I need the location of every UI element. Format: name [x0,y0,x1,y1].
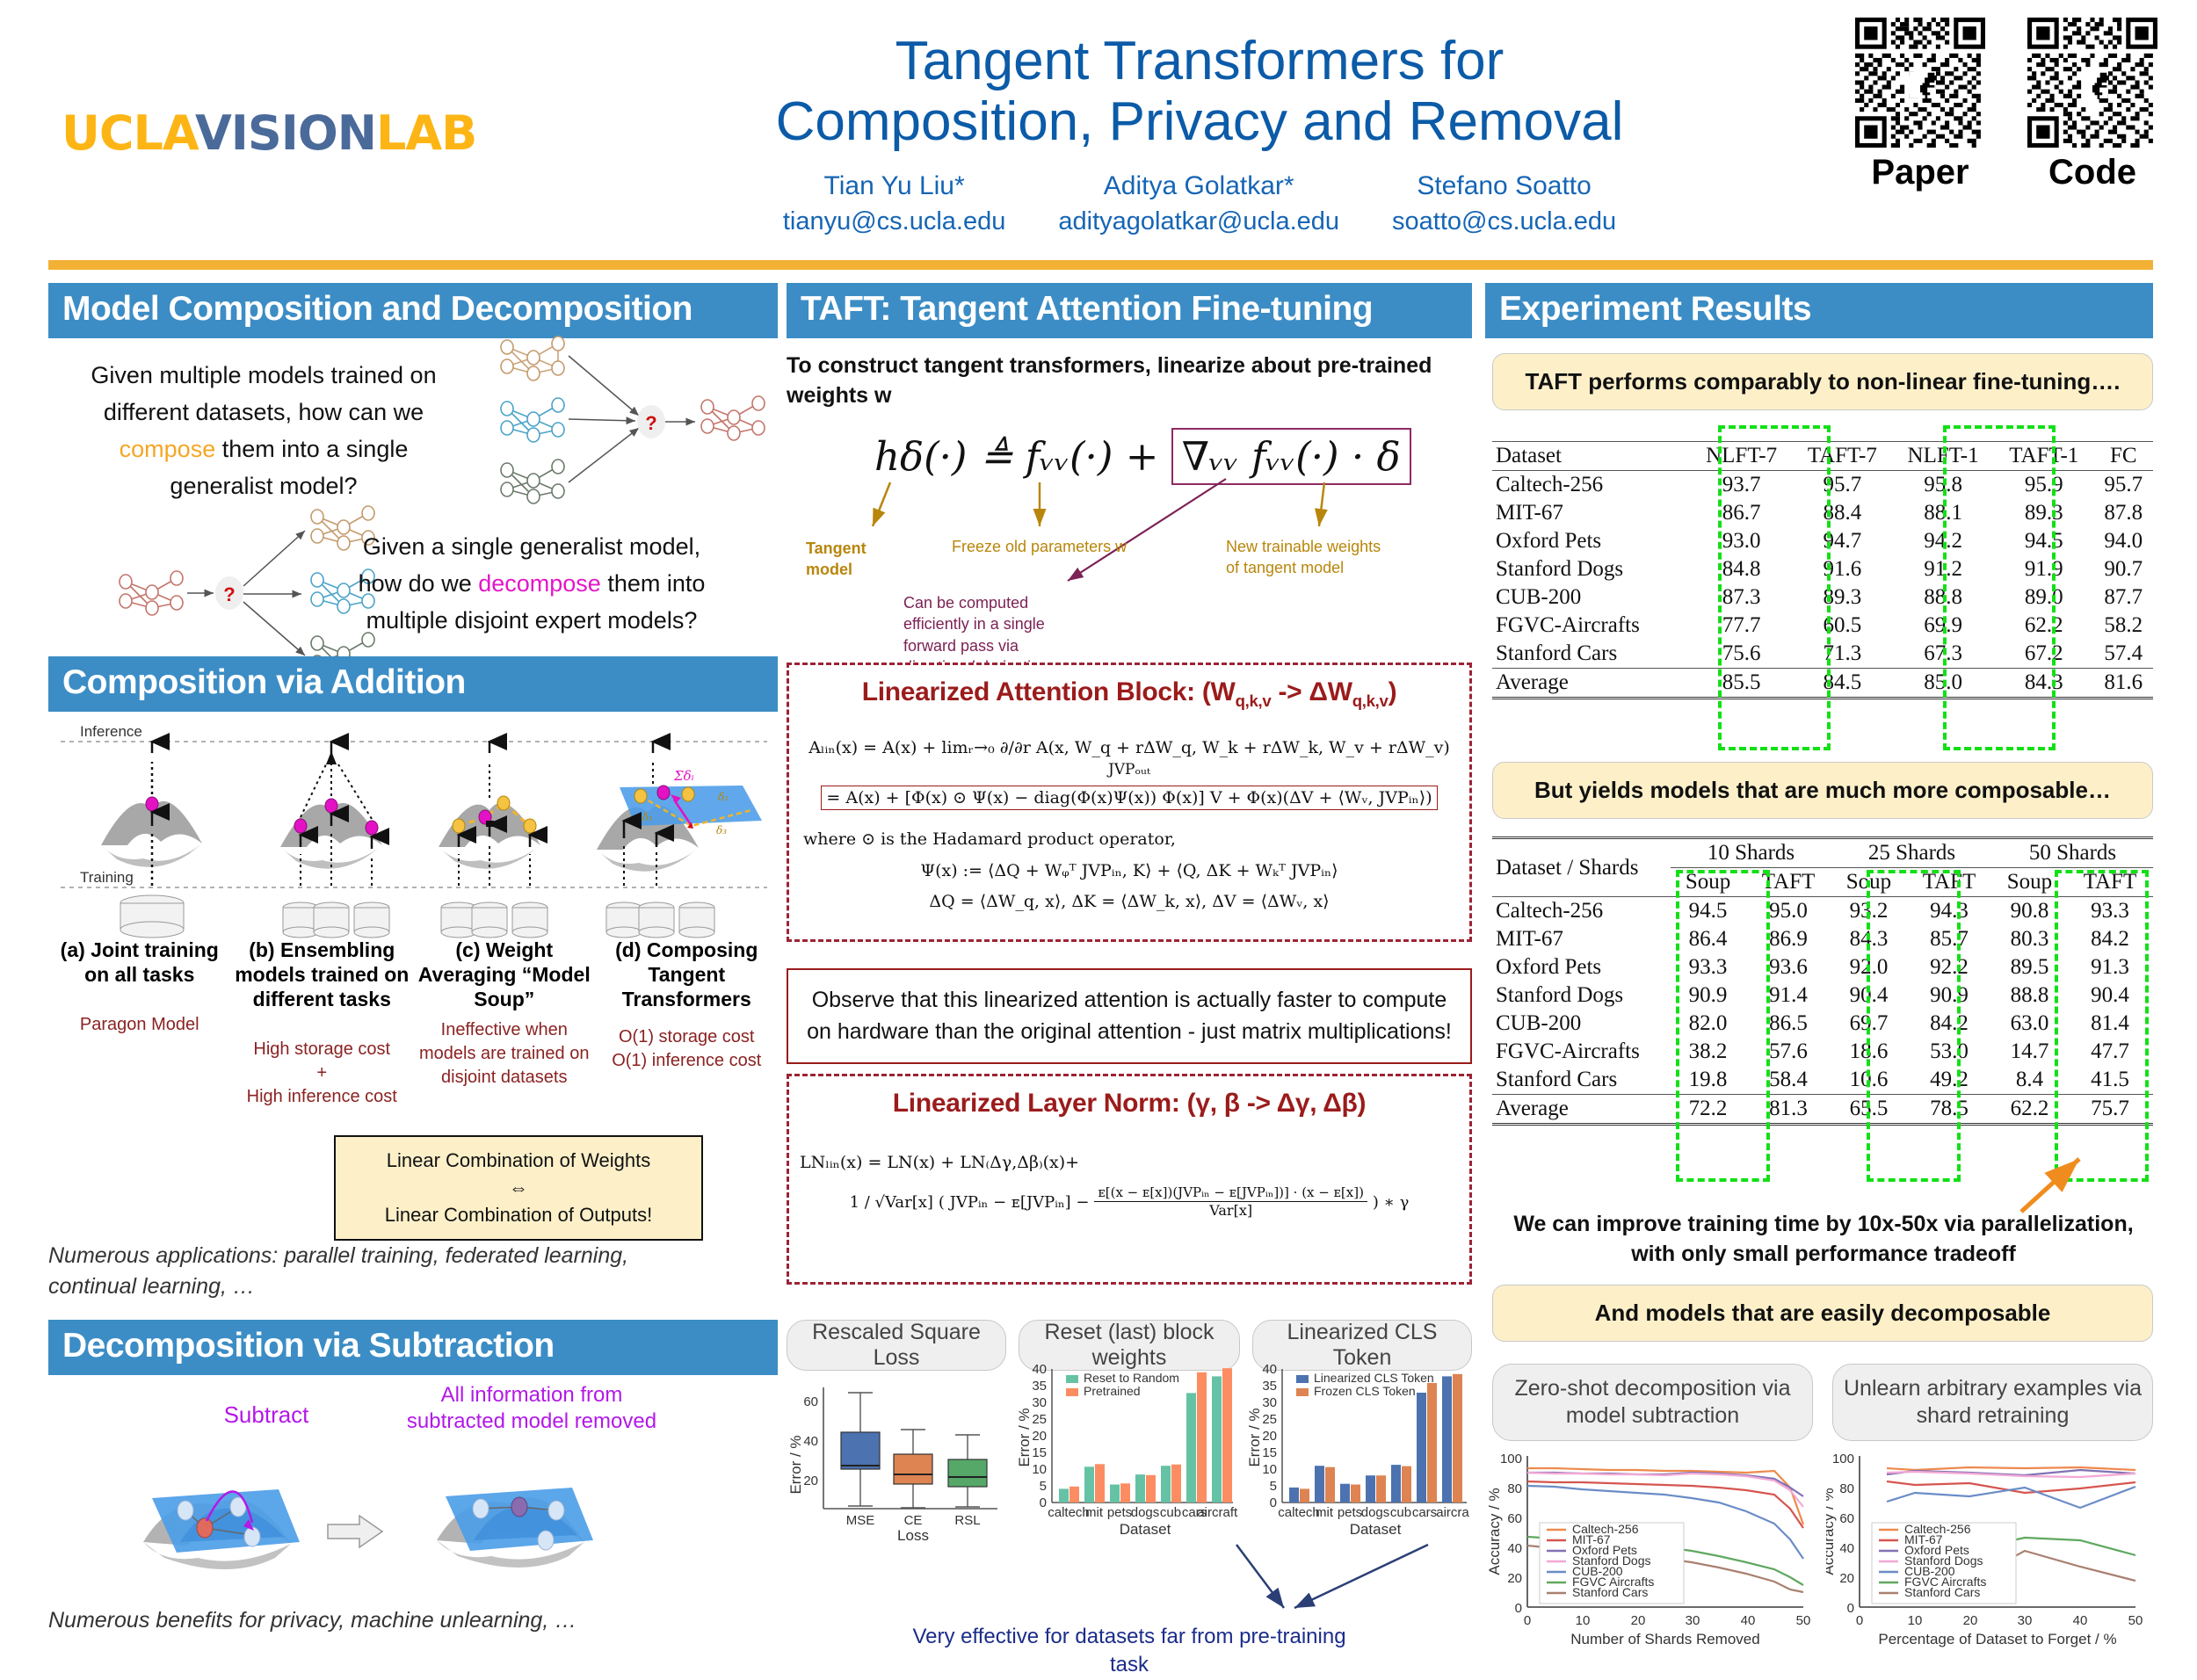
svg-text:100: 100 [1500,1452,1522,1466]
svg-text:0: 0 [1040,1495,1047,1510]
svg-text:10: 10 [1908,1613,1923,1628]
svg-text:15: 15 [1032,1445,1047,1460]
svg-text:20: 20 [1839,1571,1854,1586]
svg-text:60: 60 [1507,1511,1522,1526]
results-table-2-wrap: Dataset / Shards 10 Shards 25 Shards 50 … [1492,836,2153,1126]
caption-c-title: (c) Weight Averaging “Model Soup” [413,938,596,1011]
svg-text:40: 40 [1741,1613,1756,1628]
svg-text:aircrafts: aircrafts [1197,1505,1238,1520]
label-training: Training [80,869,134,886]
label-delta-3: δ₃ [716,824,727,836]
svg-text:caltech: caltech [1278,1505,1320,1520]
table-row: Oxford Pets93.393.692.092.289.591.3 [1492,953,2153,981]
svg-text:40: 40 [2073,1613,2088,1628]
right-column: Experiment Results TAFT performs compara… [1485,283,2153,338]
observation-callout: Observe that this linearized attention i… [787,968,1472,1064]
svg-text:10: 10 [1262,1462,1277,1477]
svg-text:mit: mit [1316,1505,1334,1520]
table-row: Oxford Pets93.094.794.294.594.0 [1492,527,2153,555]
chart-bar-reset-block: 0510 152025 303540 Error / % Reset to [1017,1362,1238,1545]
attn-title-sub1: q,k,v [1236,692,1272,710]
layernorm-equation-2: 1 / √Var[x] ( JVPᵢₙ − ᴇ[JVPᵢₙ] − ᴇ[(x − … [789,1184,1469,1220]
svg-text:mit: mit [1085,1505,1104,1520]
section-header-experiment-results: Experiment Results [1485,283,2153,338]
label-delta-2: δ₂ [718,791,729,803]
svg-text:MSE: MSE [846,1513,875,1528]
svg-text:50: 50 [2128,1613,2143,1628]
table-row: MIT-6786.486.984.385.780.384.2 [1492,925,2153,953]
results-table-2: Dataset / Shards 10 Shards 25 Shards 50 … [1492,836,2153,1126]
callout-taft-comparable: TAFT performs comparably to non-linear f… [1492,353,2153,410]
table-row: Caltech-25693.795.795.895.995.7 [1492,471,2153,500]
caption-c-note: Ineffective when models are trained on d… [413,1018,596,1090]
svg-text:Number of Shards Removed: Number of Shards Removed [1570,1631,1759,1647]
svg-text:40: 40 [1839,1541,1854,1556]
linearized-attention-block: Linearized Attention Block: (Wq,k,v -> Δ… [787,663,1472,942]
table-row: FGVC-Aircrafts38.257.618.653.014.747.7 [1492,1038,2153,1066]
legend-frozen-cls-token: Frozen CLS Token [1314,1384,1416,1398]
ln-body-open: ( JVPᵢₙ − ᴇ[JVPᵢₙ] − [939,1193,1090,1212]
svg-text:Loss: Loss [897,1527,929,1544]
svg-text:15: 15 [1262,1445,1277,1460]
linear-combination-callout: Linear Combination of Weights ⇔ Linear C… [334,1135,703,1241]
lincombo-line-1: Linear Combination of Weights [343,1148,694,1175]
svg-text:pets: pets [1107,1505,1132,1520]
chart-line-zero-shot-decomposition: 02040 6080100 Accuracy / % [1485,1447,1824,1658]
ln-frac-numerator: ᴇ[(x − ᴇ[x])(JVPᵢₙ − ᴇ[JVPᵢₙ])] · (x − ᴇ… [1094,1184,1367,1202]
table-row: Stanford Cars19.858.410.649.28.441.5 [1492,1066,2153,1095]
layernorm-title: Linearized Layer Norm: (γ, β -> Δγ, Δβ) [789,1076,1469,1119]
author-2-name: Aditya Golatkar* [1104,171,1294,200]
legend-linearized-cls-token: Linearized CLS Token [1314,1371,1434,1385]
legend-reset-to-random: Reset to Random [1084,1371,1179,1385]
svg-text:60: 60 [1839,1511,1854,1526]
table1-col-taft1: TAFT-1 [1994,442,2093,471]
svg-text:Error / %: Error / % [787,1435,804,1494]
svg-text:25: 25 [1032,1412,1047,1427]
author-2: Aditya Golatkar* adityagolatkar@ucla.edu [1058,169,1339,239]
author-2-email[interactable]: adityagolatkar@ucla.edu [1058,205,1339,239]
author-3: Stefano Soatto soatto@cs.ucla.edu [1392,169,1616,239]
middle-column: TAFT: Tangent Attention Fine-tuning To c… [787,283,1472,338]
svg-text:0: 0 [1515,1601,1522,1616]
svg-text:0: 0 [1856,1613,1863,1628]
svg-text:10: 10 [1576,1613,1591,1628]
table-row: Stanford Dogs84.891.691.291.990.7 [1492,555,2153,583]
qr-code-code-icon[interactable] [2027,18,2157,148]
results-table-1-wrap: Dataset NLFT-7 TAFT-7 NLFT-1 TAFT-1 FC C… [1492,441,2153,699]
chart-boxplot-loss: 204060 Error / % [787,1377,1008,1544]
removed-label-line2: subtracted model removed [407,1409,656,1433]
svg-text:dogs: dogs [1361,1505,1390,1520]
qr-code-cell[interactable]: Code [2027,18,2157,192]
svg-text:20: 20 [1507,1571,1522,1586]
section-header-composition-addition: Composition via Addition [48,656,778,712]
svg-text:Accuracy / %: Accuracy / % [1486,1488,1503,1575]
ln-fraction: ᴇ[(x − ᴇ[x])(JVPᵢₙ − ᴇ[JVPᵢₙ])] · (x − ᴇ… [1094,1184,1367,1220]
attn-title-a: Linearized Attention Block: (W [862,677,1236,706]
label-sum-delta: Σδᵢ [673,768,694,784]
label-delta-1: δ₁ [642,811,653,823]
logo-part-lab: LAB [376,105,476,161]
svg-text:80: 80 [1507,1481,1522,1496]
table2-group-10shards: 10 Shards [1671,838,1831,868]
removed-label-line1: All information from [441,1383,623,1407]
table-row: CUB-20082.086.569.784.263.081.4 [1492,1010,2153,1038]
svg-text:Dataset: Dataset [1350,1521,1402,1538]
speedup-note: We can improve training time by 10x-50x … [1503,1210,2144,1270]
lincombo-equiv-symbol: ⇔ [343,1175,694,1202]
svg-text:40: 40 [803,1434,818,1449]
qr-code-svg [2027,18,2157,148]
caption-d-note: O(1) storage cost O(1) inference cost [596,1025,779,1073]
svg-text:40: 40 [1507,1541,1522,1556]
qr-code-label: Code [2027,153,2157,192]
right-pill-row: Zero-shot decomposition via model subtra… [1492,1364,2153,1441]
left-column: Model Composition and Decomposition Give… [48,283,778,338]
table1-col-nlft1: NLFT-1 [1892,442,1994,471]
title-line-1: Tangent Transformers for [615,31,1784,91]
chart-effectiveness-note: Very effective for datasets far from pre… [910,1623,1349,1680]
svg-text:0: 0 [1524,1613,1531,1628]
compose-network-diagram: ? [488,331,778,533]
intro-paragraph-decompose: Given a single generalist model, how do … [338,529,725,640]
author-3-name: Stefano Soatto [1417,171,1592,200]
svg-text:0: 0 [1847,1601,1854,1616]
svg-text:100: 100 [1832,1452,1854,1466]
ln-frac-denominator: Var[x] [1094,1202,1367,1220]
poster-header: UCLAVISIONLAB Tangent Transformers for C… [0,0,2197,255]
svg-text:60: 60 [803,1394,818,1409]
intro-compose-a: Given multiple models trained on differe… [91,362,436,425]
annotation-freeze-params: Freeze old parameters w [952,536,1154,557]
svg-text:50: 50 [1796,1613,1811,1628]
table2-sub-taft-10: TAFT [1745,868,1831,897]
svg-text:CE: CE [904,1513,923,1528]
svg-text:Dataset: Dataset [1120,1521,1171,1538]
label-inference: Inference [80,723,142,740]
caption-a-title: (a) Joint training on all tasks [48,938,231,987]
benefits-note: Numerous benefits for privacy, machine u… [48,1605,734,1636]
table1-col-nlft7: NLFT-7 [1691,442,1793,471]
table2-group-header-row: Dataset / Shards 10 Shards 25 Shards 50 … [1492,838,2153,868]
svg-text:aircra: aircra [1436,1505,1469,1520]
qr-paper-label: Paper [1855,153,1985,192]
author-list: Tian Yu Liu* tianyu@cs.ucla.edu Aditya G… [615,169,1784,239]
results-table-1: Dataset NLFT-7 TAFT-7 NLFT-1 TAFT-1 FC C… [1492,441,2153,699]
svg-text:Error / %: Error / % [1017,1408,1033,1466]
annotation-tangent-model: Tangent model [806,538,911,581]
svg-text:20: 20 [1963,1613,1978,1628]
svg-text:25: 25 [1262,1412,1277,1427]
svg-text:5: 5 [1040,1479,1047,1494]
svg-text:Percentage of Dataset to Forge: Percentage of Dataset to Forget / % [1878,1631,2116,1647]
svg-text:35: 35 [1032,1379,1047,1394]
svg-text:dogs: dogs [1131,1505,1160,1520]
gold-divider-bar [48,260,2153,270]
table2-sub-soup-50: Soup [1992,868,2067,897]
attn-title-b: -> ΔW [1271,677,1352,706]
caption-b-title: (b) Ensembling models trained on differe… [231,938,414,1011]
svg-text:80: 80 [1839,1481,1854,1496]
qr-paper-svg [1855,18,1985,148]
svg-text:caltech: caltech [1048,1505,1090,1520]
attn-title-sub2: q,k,v [1352,692,1389,710]
svg-text:35: 35 [1262,1379,1277,1394]
subtract-label: Subtract [224,1401,310,1428]
chart-bar-cls-token: 0510 152025 303540 Error / % Linearize [1247,1362,1472,1545]
table-row: Caltech-25694.595.093.294.390.893.3 [1492,897,2153,926]
table1-col-fc: FC [2094,442,2154,471]
table1-col-dataset: Dataset [1492,442,1691,471]
logo-part-ucla: UCLA [62,105,195,161]
legend2-stanford-cars: Stanford Cars [1904,1585,1980,1599]
attention-block-title: Linearized Attention Block: (Wq,k,v -> Δ… [789,665,1469,711]
svg-text:cars: cars [1412,1505,1437,1520]
chart-line-unlearn-shard-retraining: 02040 6080100 Accuracy / % [1826,1447,2156,1658]
caption-d-title: (d) Composing Tangent Transformers [596,938,779,1011]
ln-frac-pre: 1 / √Var[x] [850,1193,933,1212]
caption-col-c: (c) Weight Averaging “Model Soup” Ineffe… [413,938,596,1109]
compose-question-mark: ? [645,412,656,434]
svg-text:20: 20 [1032,1429,1047,1444]
attention-equation-2: = A(x) + [Φ(x) ⊙ Ψ(x) − diag(Φ(x)Ψ(x)) Φ… [789,784,1469,813]
callout-easily-decomposable: And models that are easily decomposable [1492,1285,2153,1342]
callout-more-composable: But yields models that are much more com… [1492,762,2153,819]
svg-text:Error / %: Error / % [1247,1408,1263,1466]
author-1: Tian Yu Liu* tianyu@cs.ucla.edu [783,169,1006,239]
ln-body-close: ) ∗ γ [1373,1193,1409,1212]
svg-text:10: 10 [1032,1462,1047,1477]
caption-a-note: Paragon Model [48,1013,231,1037]
table2-group-25shards: 25 Shards [1831,838,1992,868]
intro-paragraph-compose: Given multiple models trained on differe… [70,358,457,504]
section-header-taft: TAFT: Tangent Attention Fine-tuning [787,283,1472,338]
caption-b-note: High storage cost + High inference cost [231,1038,414,1109]
annotation-new-weights: New trainable weights of tangent model [1226,536,1384,579]
author-1-name: Tian Yu Liu* [824,171,965,200]
taft-lead-text: To construct tangent transformers, linea… [787,351,1472,411]
qr-paper-cell[interactable]: Paper [1855,18,1985,192]
svg-text:cub: cub [1160,1505,1181,1520]
table-row: CUB-20087.389.388.889.087.7 [1492,583,2153,612]
composition-landscape-diagram: Inference Training [48,713,778,946]
table-row: MIT-6786.788.488.189.387.8 [1492,499,2153,527]
attention-equation-4: ΔQ = ⟨ΔW_q, x⟩, ΔK = ⟨ΔW_k, x⟩, ΔV = ⟨ΔW… [789,887,1469,916]
pill-zero-shot-decomposition[interactable]: Zero-shot decomposition via model subtra… [1492,1364,1813,1441]
svg-text:40: 40 [1032,1362,1047,1377]
svg-text:30: 30 [2018,1613,2033,1628]
table2-sub-taft-25: TAFT [1906,868,1992,897]
legend-stanford-cars: Stanford Cars [1572,1585,1648,1599]
pill-rescaled-square-loss[interactable]: Rescaled Square Loss [787,1320,1006,1371]
ucla-vision-lab-logo: UCLAVISIONLAB [62,105,476,161]
svg-text:40: 40 [1262,1362,1277,1377]
table1-average-row: Average85.584.585.084.381.6 [1492,669,2153,699]
table2-sub-soup-10: Soup [1671,868,1745,897]
section-header-model-composition: Model Composition and Decomposition [48,283,778,338]
qr-code-paper-icon[interactable] [1855,18,1985,148]
svg-text:0: 0 [1270,1495,1277,1510]
svg-text:pets: pets [1338,1505,1362,1520]
attention-equation-3: Ψ(x) := ⟨ΔQ + Wᵩᵀ JVPᵢₙ, K⟩ + ⟨Q, ΔK + W… [789,855,1469,887]
orange-pointer-arrow [2012,1148,2118,1219]
svg-text:30: 30 [1262,1395,1277,1410]
svg-text:5: 5 [1270,1479,1277,1494]
table-row: Stanford Cars75.671.367.367.257.4 [1492,640,2153,669]
caption-col-b: (b) Ensembling models trained on differe… [231,938,414,1109]
svg-text:RSL: RSL [954,1513,980,1528]
decompose-question-mark: ? [223,583,235,605]
table-row: FGVC-Aircrafts77.760.569.962.258.2 [1492,612,2153,640]
table2-average-row: Average 72.2 81.3 65.5 78.5 62.2 75.7 [1492,1095,2153,1125]
attention-where-note: where ⊙ is the Hadamard product operator… [789,813,1469,854]
attn-title-c: ) [1389,677,1397,706]
table2-corner: Dataset / Shards [1492,838,1671,897]
subtraction-diagram: Subtract All information from subtracted… [48,1377,778,1632]
table2-sub-soup-25: Soup [1831,868,1906,897]
applications-note: Numerous applications: parallel training… [48,1241,681,1302]
pill-unlearn-shard-retraining[interactable]: Unlearn arbitrary examples via shard ret… [1832,1364,2153,1441]
svg-text:Accuracy / %: Accuracy / % [1826,1488,1837,1575]
legend-pretrained: Pretrained [1084,1384,1141,1398]
lincombo-line-2: Linear Combination of Outputs! [343,1202,694,1229]
keyword-compose: compose [120,436,216,462]
svg-text:20: 20 [803,1474,818,1488]
svg-text:30: 30 [1686,1613,1700,1628]
author-3-email[interactable]: soatto@cs.ucla.edu [1392,205,1616,239]
layernorm-equation-1: LNₗᵢₙ(x) = LN(x) + LN₍Δγ,Δβ₎(x)+ [789,1119,1469,1177]
author-1-email[interactable]: tianyu@cs.ucla.edu [783,205,1006,239]
table1-col-taft7: TAFT-7 [1793,442,1892,471]
logo-part-vision: VISION [195,105,376,161]
table2-sub-taft-50: TAFT [2067,868,2153,897]
table1-header-row: Dataset NLFT-7 TAFT-7 NLFT-1 TAFT-1 FC [1492,442,2153,471]
qr-code-group: Paper [1855,18,2157,192]
poster-root: UCLAVISIONLAB Tangent Transformers for C… [0,0,2197,1647]
svg-text:20: 20 [1262,1429,1277,1444]
section-header-decomposition-subtraction: Decomposition via Subtraction [48,1320,778,1375]
table2-group-50shards: 50 Shards [1992,838,2153,868]
title-line-2: Composition, Privacy and Removal [615,91,1784,152]
svg-text:cub: cub [1390,1505,1411,1520]
composition-captions-row: (a) Joint training on all tasks Paragon … [48,938,778,1109]
chart-note-arrows [1050,1539,1454,1627]
svg-text:20: 20 [1631,1613,1646,1628]
caption-col-a: (a) Joint training on all tasks Paragon … [48,938,231,1109]
poster-title: Tangent Transformers for Composition, Pr… [615,31,1784,153]
keyword-decompose: decompose [478,570,601,597]
table-row: Stanford Dogs90.991.490.490.988.890.4 [1492,981,2153,1010]
svg-text:30: 30 [1032,1395,1047,1410]
caption-col-d: (d) Composing Tangent Transformers O(1) … [596,938,779,1109]
linearized-layernorm-block: Linearized Layer Norm: (γ, β -> Δγ, Δβ) … [787,1074,1472,1285]
